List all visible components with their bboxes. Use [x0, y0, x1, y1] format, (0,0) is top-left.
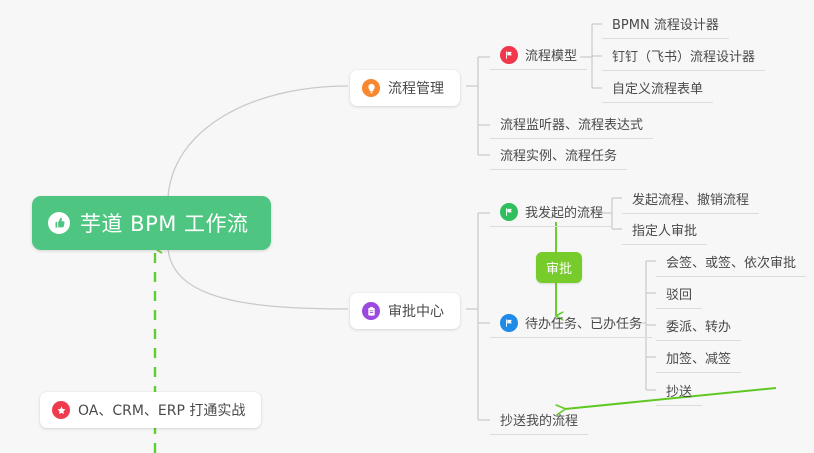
branch-process-management-label: 流程管理 [388, 78, 444, 98]
node-cc[interactable]: 抄送 [656, 377, 702, 406]
thumbs-up-icon [48, 212, 70, 234]
node-reject[interactable]: 驳回 [656, 280, 702, 309]
root-label: 芋道 BPM 工作流 [80, 208, 249, 238]
link-root-to-approval-center [168, 248, 348, 309]
integration-note-label: OA、CRM、ERP 打通实战 [78, 400, 245, 420]
flag-icon [500, 203, 518, 221]
lightbulb-icon [362, 79, 380, 97]
node-my-started-process-label: 我发起的流程 [525, 202, 603, 221]
node-countersign[interactable]: 会签、或签、依次审批 [656, 248, 806, 277]
node-process-listener[interactable]: 流程监听器、流程表达式 [490, 110, 653, 139]
flag-icon [500, 46, 518, 64]
node-custom-form[interactable]: 自定义流程表单 [602, 74, 713, 103]
branch-approval-center[interactable]: 审批中心 [350, 293, 460, 329]
branch-process-management[interactable]: 流程管理 [350, 70, 460, 106]
node-bpmn-designer[interactable]: BPMN 流程设计器 [602, 10, 729, 39]
node-add-remove-sign[interactable]: 加签、减签 [656, 344, 741, 373]
node-my-started-process[interactable]: 我发起的流程 [490, 198, 613, 227]
node-cc-my-process[interactable]: 抄送我的流程 [490, 406, 588, 435]
node-todo-done-tasks-label: 待办任务、已办任务 [525, 313, 642, 332]
root-node[interactable]: 芋道 BPM 工作流 [32, 196, 271, 250]
flag-icon [500, 314, 518, 332]
node-dingtalk-designer[interactable]: 钉钉（飞书）流程设计器 [602, 42, 765, 71]
node-start-cancel-process[interactable]: 发起流程、撤销流程 [622, 185, 759, 214]
approval-tag[interactable]: 审批 [536, 252, 582, 283]
clipboard-icon [362, 302, 380, 320]
integration-note-node[interactable]: OA、CRM、ERP 打通实战 [40, 392, 261, 428]
node-process-instance[interactable]: 流程实例、流程任务 [490, 141, 627, 170]
link-root-to-process-management [168, 86, 348, 198]
star-icon [52, 401, 70, 419]
mindmap-canvas: 芋道 BPM 工作流 流程管理 流程模型 BPMN 流程设计器 钉钉（飞书）流程… [0, 0, 814, 453]
node-process-model-label: 流程模型 [525, 45, 577, 64]
node-todo-done-tasks[interactable]: 待办任务、已办任务 [490, 309, 652, 338]
node-delegate-transfer[interactable]: 委派、转办 [656, 312, 741, 341]
node-assignee-approval[interactable]: 指定人审批 [622, 216, 707, 245]
node-process-model[interactable]: 流程模型 [490, 41, 587, 70]
branch-approval-center-label: 审批中心 [388, 301, 444, 321]
